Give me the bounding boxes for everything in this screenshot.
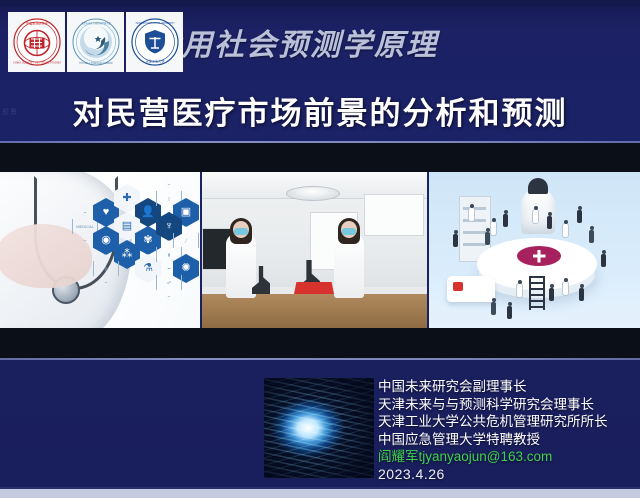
- svg-text:天津市未来与预测科学研究会: 天津市未来与预测科学研究会: [81, 21, 112, 25]
- top-edge-strip: [0, 0, 640, 7]
- photo-isometric-healthcare: [429, 172, 640, 328]
- svg-text:天津工业大学: 天津工业大学: [145, 59, 164, 64]
- svg-text:中国未来研究会: 中国未来研究会: [26, 21, 48, 26]
- photo-strip: MEDICAL ♥ ✚ 👤 ▯ ▣ ▤ ✾ ◉ ♆ ╱ ⁂ ▥ ⚗ ▮ ✺ ☍: [0, 172, 640, 328]
- logo-group: 中国未来研究会 CHINA SOCIETY FOR FUTURE STUDIES…: [8, 12, 183, 72]
- china-society-future-studies-logo: 中国未来研究会 CHINA SOCIETY FOR FUTURE STUDIES: [8, 12, 65, 72]
- presentation-date: 2023.4.26: [378, 466, 608, 484]
- svg-text:TIANJIN POLYTECHNIC UNIVERSITY: TIANJIN POLYTECHNIC UNIVERSITY: [135, 22, 175, 25]
- dark-band-lower: [0, 328, 640, 359]
- medical-hex-icon-cluster: MEDICAL ♥ ✚ 👤 ▯ ▣ ▤ ✾ ◉ ♆ ╱ ⁂ ▥ ⚗ ▮ ✺ ☍: [72, 178, 200, 326]
- dark-band-upper: [0, 143, 640, 172]
- credit-line-2: 天津未来与与预测科学研究会理事长: [378, 396, 608, 414]
- divider-line-lower: [0, 358, 640, 360]
- speaker-credits: 中国未来研究会副理事长 天津未来与与预测科学研究会理事长 天津工业大学公共危机管…: [378, 378, 608, 483]
- iso-ambulance: [447, 276, 495, 302]
- lab-technician-left: [226, 234, 256, 298]
- bottom-edge-strip: [0, 487, 640, 498]
- credit-line-4: 中国应急管理大学特聘教授: [378, 431, 608, 449]
- tianjin-future-forecast-science-logo: 天津市未来与预测科学研究会 FUTURE & FORECAST SCIENCE: [67, 12, 124, 72]
- credit-line-3: 天津工业大学公共危机管理研究所所长: [378, 413, 608, 431]
- presentation-slide: 中国未来研究会 CHINA SOCIETY FOR FUTURE STUDIES…: [0, 0, 640, 498]
- medical-cross-icon: [517, 246, 561, 266]
- photo-laboratory-technicians: [202, 172, 427, 328]
- speaker-name: 阎耀军: [378, 449, 419, 464]
- iso-ladder: [529, 276, 545, 310]
- photo-digital-data-tunnel: [264, 378, 374, 478]
- speaker-contact: 阎耀军tjyanyaojun@163.com: [378, 448, 608, 466]
- svg-text:FUTURE & FORECAST SCIENCE: FUTURE & FORECAST SCIENCE: [79, 62, 113, 65]
- photo-medical-technology: MEDICAL ♥ ✚ 👤 ▯ ▣ ▤ ✾ ◉ ♆ ╱ ⁂ ▥ ⚗ ▮ ✺ ☍: [0, 172, 200, 328]
- lab-technician-right: [334, 234, 364, 298]
- page-title: 对民营医疗市场前景的分析和预测: [0, 88, 640, 133]
- svg-text:CHINA SOCIETY FOR FUTURE STUDI: CHINA SOCIETY FOR FUTURE STUDIES: [13, 60, 61, 64]
- speaker-email[interactable]: tjyanyaojun@163.com: [419, 449, 553, 464]
- tiangong-university-logo: TIANJIN POLYTECHNIC UNIVERSITY 天津工业大学: [126, 12, 183, 72]
- slide-subtitle-heading: 运用社会预测学原理: [150, 20, 438, 64]
- credit-line-1: 中国未来研究会副理事长: [378, 378, 608, 396]
